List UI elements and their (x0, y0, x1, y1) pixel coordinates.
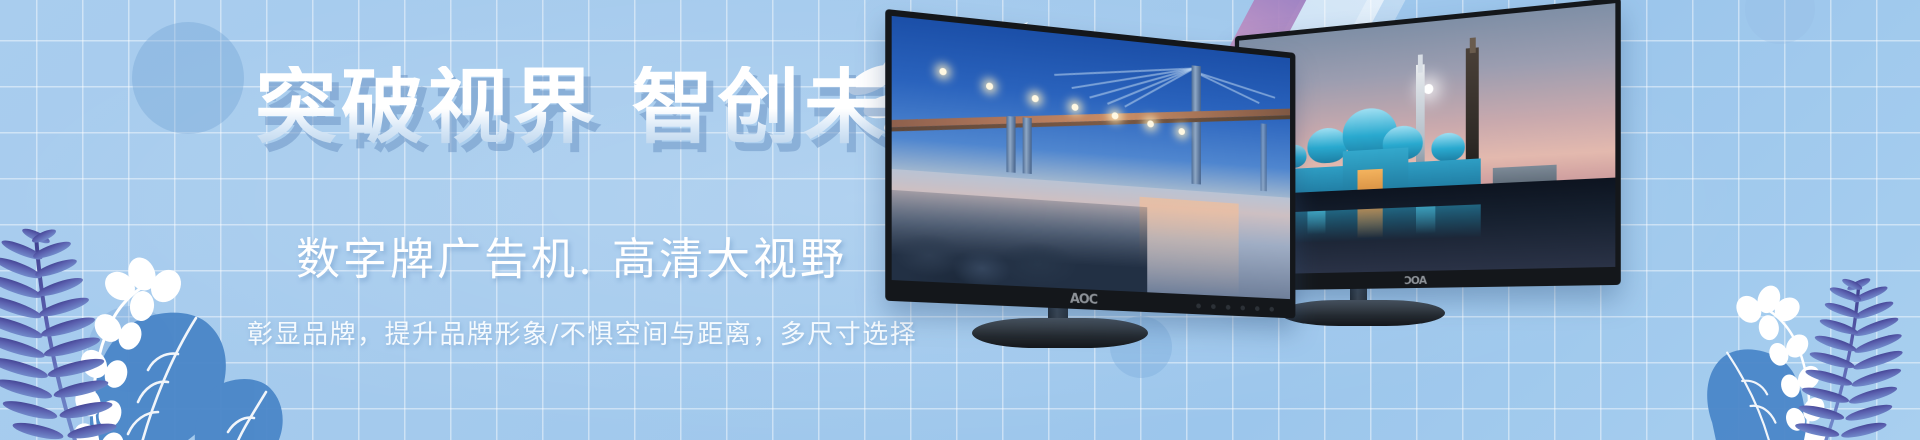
front-monitor-logo: AOC (1070, 292, 1097, 308)
front-monitor-bezel: AOC (885, 9, 1295, 319)
promo-banner: 突破视界 智创未来 数字牌广告机. 高清大视野 彰显品牌，提升品牌形象/不惧空间… (0, 0, 1920, 440)
rear-monitor-logo: AOC (1405, 274, 1427, 287)
tagline: 彰显品牌，提升品牌形象/不惧空间与距离，多尺寸选择 (247, 322, 917, 348)
rear-monitor-base (1280, 300, 1445, 326)
product-images: AOC (880, 0, 1920, 440)
front-monitor-base (972, 318, 1148, 348)
subheadline: 数字牌广告机. 高清大视野 (296, 238, 847, 282)
front-monitor-vents (1196, 303, 1274, 311)
rear-monitor-screen (1239, 3, 1615, 274)
headline: 突破视界 智创未来 (255, 66, 976, 148)
front-monitor-screen (892, 16, 1290, 299)
